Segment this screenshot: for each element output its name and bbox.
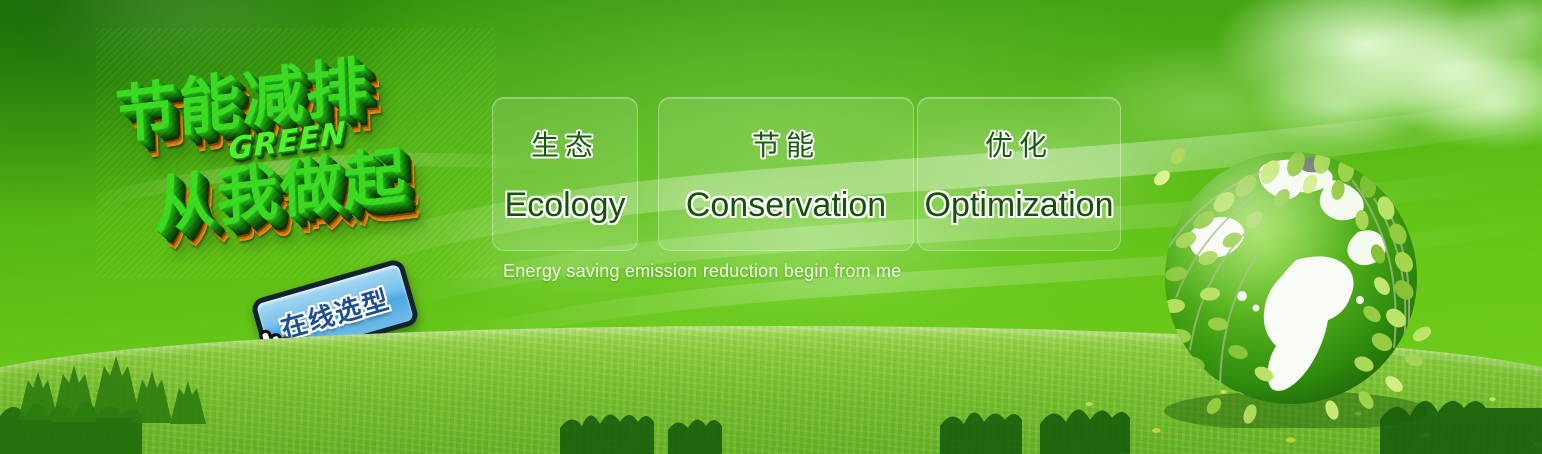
feature-card-optimization[interactable]: 优化 Optimization <box>917 97 1121 251</box>
eco-hero-banner: 节能减排 从我做起 GREEN 在线选型 生态 Ecology 节能 Conse… <box>0 0 1542 454</box>
meadow-icon <box>0 326 1542 454</box>
feature-card-en-label: Ecology <box>505 186 626 225</box>
feature-card-cn-label: 生态 <box>531 124 599 164</box>
feature-card-conservation[interactable]: 节能 Conservation <box>658 97 914 251</box>
feature-card-cn-label: 节能 <box>752 124 820 164</box>
feature-card-en-label: Optimization <box>925 186 1114 225</box>
feature-card-cn-label: 优化 <box>985 124 1053 164</box>
leaf-litter-decoration <box>1022 356 1542 454</box>
banner-tagline: Energy saving emission reduction begin f… <box>503 261 901 282</box>
feature-card-en-label: Conservation <box>686 186 886 225</box>
feature-card-ecology[interactable]: 生态 Ecology <box>492 97 638 251</box>
